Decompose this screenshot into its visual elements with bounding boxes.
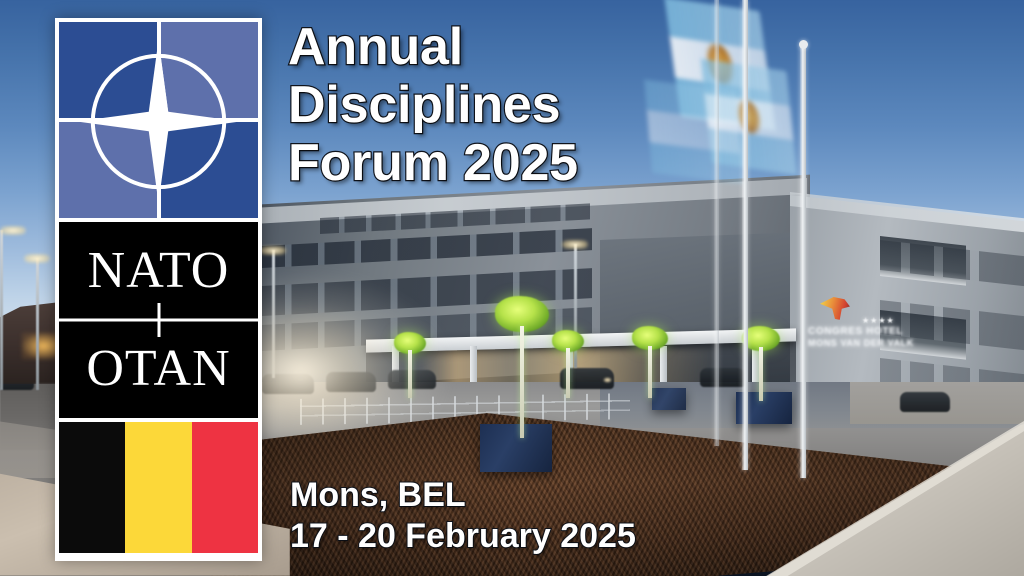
hotel-sign-line2: MONS VAN DER VALK	[808, 338, 914, 348]
event-dates: 17 - 20 February 2025	[290, 516, 720, 557]
event-title: Annual Disciplines Forum 2025	[288, 18, 718, 193]
street-lamp-light	[24, 254, 50, 263]
illuminated-tree	[492, 296, 552, 436]
nato-compass-star-emblem	[59, 22, 258, 218]
parked-car	[900, 392, 950, 412]
nato-otan-wordmark: NATO OTAN	[59, 222, 258, 418]
toucan-logo-icon	[820, 292, 854, 320]
street-lamp-post	[0, 230, 3, 390]
street-lamp-light	[260, 246, 286, 255]
event-details: Mons, BEL 17 - 20 February 2025	[290, 475, 720, 557]
flag-band-yellow	[125, 422, 191, 553]
wordmark-divider-tick	[157, 303, 160, 337]
flagpole	[800, 46, 806, 478]
title-line-3: Forum 2025	[288, 134, 718, 192]
hotel-star-rating: ★★★★	[862, 316, 895, 325]
flagpole-finial	[799, 40, 808, 49]
event-location: Mons, BEL	[290, 475, 720, 516]
flagpole	[742, 0, 748, 470]
compass-rose-icon	[59, 22, 258, 218]
nato-text: NATO	[88, 245, 230, 297]
illuminated-tree	[628, 326, 672, 396]
illuminated-tree	[390, 332, 430, 396]
event-banner: ★★★★ CONGRES HOTEL MONS VAN DER VALK	[0, 0, 1024, 576]
street-lamp-light	[0, 226, 26, 235]
otan-text: OTAN	[86, 343, 230, 395]
nato-logo-panel: NATO OTAN	[55, 18, 262, 561]
street-lamp-light	[562, 240, 588, 249]
hotel-sign: ★★★★ CONGRES HOTEL MONS VAN DER VALK	[806, 292, 910, 358]
street-lamp-post	[36, 258, 39, 390]
car-headlight	[604, 378, 611, 382]
illuminated-tree	[548, 330, 588, 396]
hotel-sign-line1: CONGRES HOTEL	[808, 326, 903, 337]
title-line-1: Annual	[288, 18, 718, 76]
belgium-flag	[59, 422, 258, 553]
flag-band-red	[192, 422, 258, 553]
flag-band-black	[59, 422, 125, 553]
title-line-2: Disciplines	[288, 76, 718, 134]
